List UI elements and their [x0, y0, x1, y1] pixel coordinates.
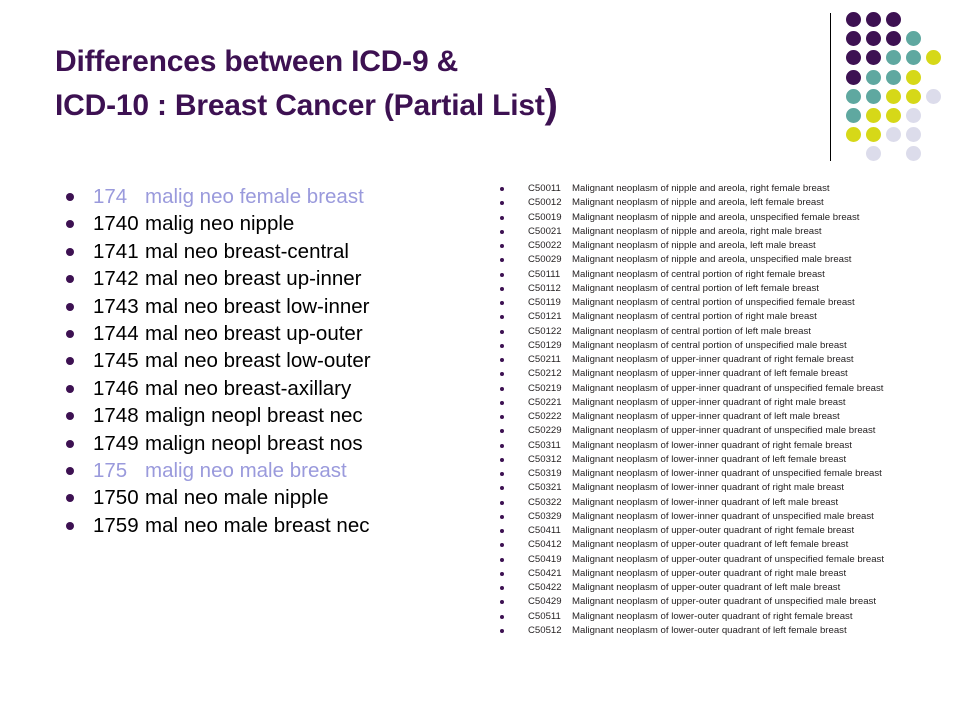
icd9-description: mal neo breast-central [145, 240, 349, 263]
icd9-description: mal neo breast low-inner [145, 295, 369, 318]
icd10-description: Malignant neoplasm of upper-outer quadra… [572, 525, 854, 536]
icd10-list-item: C50211Malignant neoplasm of upper-inner … [496, 353, 956, 367]
bullet-icon [66, 467, 74, 475]
logo-dot-yellow [886, 108, 901, 123]
icd9-code: 1745 [93, 347, 145, 374]
icd10-list-item: C50212Malignant neoplasm of upper-inner … [496, 367, 956, 381]
icd9-description: malig neo male breast [145, 459, 347, 482]
icd9-description: malig neo nipple [145, 212, 294, 235]
bullet-icon [66, 357, 74, 365]
bullet-icon [500, 600, 504, 604]
bullet-icon [500, 187, 504, 191]
bullet-icon [500, 543, 504, 547]
bullet-icon [500, 216, 504, 220]
icd10-description: Malignant neoplasm of upper-inner quadra… [572, 354, 854, 365]
icd9-list-item: 1746mal neo breast-axillary [60, 375, 480, 402]
icd10-list-item: C50429Malignant neoplasm of upper-outer … [496, 595, 956, 609]
bullet-icon [500, 301, 504, 305]
bullet-icon [500, 501, 504, 505]
icd10-code: C50129 [528, 339, 572, 353]
bullet-icon [66, 193, 74, 201]
icd10-code: C50322 [528, 496, 572, 510]
icd9-code: 1746 [93, 375, 145, 402]
bullet-icon [500, 344, 504, 348]
icd9-list-item: 1743mal neo breast low-inner [60, 293, 480, 320]
icd10-code: C50412 [528, 538, 572, 552]
logo-dot-teal [886, 50, 901, 65]
icd10-description: Malignant neoplasm of central portion of… [572, 311, 817, 322]
bullet-icon [500, 273, 504, 277]
logo-dot-purple [846, 31, 861, 46]
logo-dot-teal [866, 89, 881, 104]
bullet-icon [500, 572, 504, 576]
logo-dot-lavender [926, 89, 941, 104]
icd9-list-item: 1745mal neo breast low-outer [60, 347, 480, 374]
icd9-list-item: 1750mal neo male nipple [60, 484, 480, 511]
icd9-code-list: 174malig neo female breast1740malig neo … [60, 183, 480, 539]
icd10-description: Malignant neoplasm of lower-inner quadra… [572, 468, 882, 479]
icd10-code: C50119 [528, 296, 572, 310]
icd10-code: C50421 [528, 567, 572, 581]
bullet-icon [66, 220, 74, 228]
icd10-description: Malignant neoplasm of nipple and areola,… [572, 183, 830, 194]
icd10-description: Malignant neoplasm of central portion of… [572, 340, 847, 351]
icd9-code: 1740 [93, 210, 145, 237]
icd10-list-item: C50022Malignant neoplasm of nipple and a… [496, 239, 956, 253]
icd10-description: Malignant neoplasm of upper-inner quadra… [572, 397, 846, 408]
logo-dot-lavender [906, 108, 921, 123]
bullet-icon [66, 522, 74, 530]
logo-dot-yellow [846, 127, 861, 142]
icd10-list-item: C50221Malignant neoplasm of upper-inner … [496, 396, 956, 410]
icd10-code: C50221 [528, 396, 572, 410]
icd9-description: malign neopl breast nec [145, 404, 363, 427]
icd10-list-item: C50322Malignant neoplasm of lower-inner … [496, 496, 956, 510]
icd10-description: Malignant neoplasm of nipple and areola,… [572, 197, 824, 208]
icd10-list-item: C50512Malignant neoplasm of lower-outer … [496, 624, 956, 638]
logo-dot-yellow [886, 89, 901, 104]
icd9-description: mal neo breast low-outer [145, 349, 371, 372]
bullet-icon [500, 372, 504, 376]
bullet-icon [500, 486, 504, 490]
icd10-code: C50211 [528, 353, 572, 367]
icd10-code: C50012 [528, 196, 572, 210]
slide-canvas: Differences between ICD-9 & ICD-10 : Bre… [0, 0, 960, 720]
icd10-description: Malignant neoplasm of nipple and areola,… [572, 254, 851, 265]
logo-dot-teal [846, 108, 861, 123]
bullet-icon [500, 401, 504, 405]
bullet-icon [500, 244, 504, 248]
logo-dot-lavender [866, 146, 881, 161]
bullet-icon [66, 440, 74, 448]
logo-dot-yellow [906, 70, 921, 85]
title-closing-paren: ) [545, 82, 558, 126]
icd10-list-item: C50421Malignant neoplasm of upper-outer … [496, 567, 956, 581]
bullet-icon [500, 287, 504, 291]
icd10-list-item: C50122Malignant neoplasm of central port… [496, 325, 956, 339]
icd9-list-item: 174malig neo female breast [60, 183, 480, 210]
icd9-list-item: 1759mal neo male breast nec [60, 512, 480, 539]
bullet-icon [500, 315, 504, 319]
bullet-icon [500, 330, 504, 334]
bullet-icon [66, 330, 74, 338]
bullet-icon [66, 303, 74, 311]
icd10-description: Malignant neoplasm of lower-inner quadra… [572, 511, 874, 522]
icd10-code: C50229 [528, 424, 572, 438]
icd10-code: C50021 [528, 225, 572, 239]
icd10-code: C50112 [528, 282, 572, 296]
icd9-code: 1741 [93, 238, 145, 265]
bullet-icon [500, 201, 504, 205]
icd10-description: Malignant neoplasm of nipple and areola,… [572, 212, 859, 223]
bullet-icon [500, 558, 504, 562]
icd10-list-item: C50119Malignant neoplasm of central port… [496, 296, 956, 310]
icd10-code: C50422 [528, 581, 572, 595]
bullet-icon [66, 412, 74, 420]
icd9-code: 1750 [93, 484, 145, 511]
logo-dot-yellow [866, 108, 881, 123]
logo-dot-purple [886, 12, 901, 27]
icd9-code: 1742 [93, 265, 145, 292]
logo-dot-teal [846, 89, 861, 104]
logo-dot-purple [846, 50, 861, 65]
bullet-icon [500, 387, 504, 391]
logo-dot-lavender [886, 127, 901, 142]
icd10-code: C50321 [528, 481, 572, 495]
icd10-list-item: C50411Malignant neoplasm of upper-outer … [496, 524, 956, 538]
icd9-code: 1749 [93, 430, 145, 457]
logo-divider-line [830, 13, 831, 161]
icd10-description: Malignant neoplasm of central portion of… [572, 297, 855, 308]
icd10-description: Malignant neoplasm of upper-outer quadra… [572, 554, 884, 565]
bullet-icon [500, 429, 504, 433]
icd10-description: Malignant neoplasm of lower-inner quadra… [572, 454, 846, 465]
icd9-code: 174 [93, 183, 145, 210]
icd10-code: C50311 [528, 439, 572, 453]
icd10-description: Malignant neoplasm of upper-outer quadra… [572, 568, 846, 579]
bullet-icon [66, 275, 74, 283]
logo-dot-lavender [906, 127, 921, 142]
icd10-code: C50019 [528, 211, 572, 225]
logo-dot-lavender [906, 146, 921, 161]
icd10-description: Malignant neoplasm of lower-inner quadra… [572, 497, 838, 508]
bullet-icon [500, 472, 504, 476]
icd10-code: C50312 [528, 453, 572, 467]
icd9-list-item: 1744mal neo breast up-outer [60, 320, 480, 347]
icd10-code: C50319 [528, 467, 572, 481]
icd10-description: Malignant neoplasm of central portion of… [572, 283, 819, 294]
icd10-description: Malignant neoplasm of central portion of… [572, 269, 825, 280]
icd9-code: 1744 [93, 320, 145, 347]
icd10-code: C50429 [528, 595, 572, 609]
icd10-list-item: C50129Malignant neoplasm of central port… [496, 339, 956, 353]
icd10-description: Malignant neoplasm of upper-outer quadra… [572, 582, 840, 593]
logo-dot-purple [846, 12, 861, 27]
icd10-list-item: C50111Malignant neoplasm of central port… [496, 268, 956, 282]
icd10-list-item: C50329Malignant neoplasm of lower-inner … [496, 510, 956, 524]
icd10-code: C50219 [528, 382, 572, 396]
bullet-icon [500, 615, 504, 619]
icd10-list-item: C50419Malignant neoplasm of upper-outer … [496, 553, 956, 567]
icd10-description: Malignant neoplasm of upper-outer quadra… [572, 596, 876, 607]
icd10-description: Malignant neoplasm of central portion of… [572, 326, 811, 337]
icd9-list-item: 175malig neo male breast [60, 457, 480, 484]
icd10-code-list: C50011Malignant neoplasm of nipple and a… [496, 182, 956, 638]
icd10-code: C50011 [528, 182, 572, 196]
title-line-2: ICD-10 : Breast Cancer (Partial List) [55, 84, 755, 128]
bullet-icon [500, 529, 504, 533]
logo-dot-yellow [906, 89, 921, 104]
icd10-code: C50512 [528, 624, 572, 638]
icd10-description: Malignant neoplasm of lower-outer quadra… [572, 611, 853, 622]
icd9-description: mal neo male breast nec [145, 514, 369, 537]
logo-dot-yellow [866, 127, 881, 142]
icd10-code: C50111 [528, 268, 572, 282]
icd10-list-item: C50121Malignant neoplasm of central port… [496, 310, 956, 324]
icd10-list-item: C50511Malignant neoplasm of lower-outer … [496, 610, 956, 624]
icd9-description: mal neo breast up-outer [145, 322, 363, 345]
icd10-description: Malignant neoplasm of nipple and areola,… [572, 226, 822, 237]
icd10-list-item: C50321Malignant neoplasm of lower-inner … [496, 481, 956, 495]
icd10-code: C50029 [528, 253, 572, 267]
logo-dot-purple [866, 12, 881, 27]
icd10-code: C50121 [528, 310, 572, 324]
icd9-list-item: 1749malign neopl breast nos [60, 430, 480, 457]
title-line-1: Differences between ICD-9 & [55, 40, 755, 84]
icd9-code: 1759 [93, 512, 145, 539]
icd10-list-item: C50229Malignant neoplasm of upper-inner … [496, 424, 956, 438]
logo-dot-teal [866, 70, 881, 85]
icd10-code: C50411 [528, 524, 572, 538]
logo-dot-purple [866, 50, 881, 65]
bullet-icon [500, 258, 504, 262]
logo-dot-purple [866, 31, 881, 46]
icd10-description: Malignant neoplasm of upper-inner quadra… [572, 383, 883, 394]
bullet-icon [500, 230, 504, 234]
icd10-list-item: C50219Malignant neoplasm of upper-inner … [496, 382, 956, 396]
icd9-description: mal neo breast up-inner [145, 267, 362, 290]
icd10-description: Malignant neoplasm of upper-outer quadra… [572, 539, 848, 550]
icd10-list-item: C50422Malignant neoplasm of upper-outer … [496, 581, 956, 595]
icd9-code: 1748 [93, 402, 145, 429]
icd9-list-item: 1740malig neo nipple [60, 210, 480, 237]
icd10-description: Malignant neoplasm of upper-inner quadra… [572, 425, 875, 436]
bullet-icon [500, 458, 504, 462]
logo-dot-yellow [926, 50, 941, 65]
icd10-list-item: C50312Malignant neoplasm of lower-inner … [496, 453, 956, 467]
bullet-icon [500, 358, 504, 362]
icd10-description: Malignant neoplasm of lower-inner quadra… [572, 440, 852, 451]
bullet-icon [500, 515, 504, 519]
icd9-list-item: 1742mal neo breast up-inner [60, 265, 480, 292]
icd10-list-item: C50112Malignant neoplasm of central port… [496, 282, 956, 296]
logo-dot-teal [906, 31, 921, 46]
bullet-icon [500, 629, 504, 633]
icd10-list-item: C50412Malignant neoplasm of upper-outer … [496, 538, 956, 552]
icd10-code: C50122 [528, 325, 572, 339]
icd9-description: mal neo breast-axillary [145, 377, 351, 400]
icd10-code: C50212 [528, 367, 572, 381]
logo-dot-teal [906, 50, 921, 65]
icd9-list-item: 1741mal neo breast-central [60, 238, 480, 265]
icd10-code: C50329 [528, 510, 572, 524]
icd9-description: malig neo female breast [145, 185, 364, 208]
bullet-icon [66, 248, 74, 256]
icd10-description: Malignant neoplasm of lower-outer quadra… [572, 625, 847, 636]
bullet-icon [500, 586, 504, 590]
title-line-2-text: ICD-10 : Breast Cancer (Partial List [55, 89, 545, 122]
logo-dot-teal [886, 70, 901, 85]
icd10-code: C50022 [528, 239, 572, 253]
icd9-list-item: 1748malign neopl breast nec [60, 402, 480, 429]
icd10-description: Malignant neoplasm of lower-inner quadra… [572, 482, 844, 493]
icd10-description: Malignant neoplasm of nipple and areola,… [572, 240, 816, 251]
bullet-icon [500, 444, 504, 448]
icd10-list-item: C50222Malignant neoplasm of upper-inner … [496, 410, 956, 424]
icd10-code: C50222 [528, 410, 572, 424]
icd10-list-item: C50011Malignant neoplasm of nipple and a… [496, 182, 956, 196]
icd10-description: Malignant neoplasm of upper-inner quadra… [572, 411, 840, 422]
icd9-code: 1743 [93, 293, 145, 320]
icd10-list-item: C50019Malignant neoplasm of nipple and a… [496, 211, 956, 225]
icd10-list-item: C50319Malignant neoplasm of lower-inner … [496, 467, 956, 481]
bullet-icon [66, 385, 74, 393]
icd10-list-item: C50021Malignant neoplasm of nipple and a… [496, 225, 956, 239]
bullet-icon [500, 415, 504, 419]
logo-dot-purple [846, 70, 861, 85]
icd9-description: mal neo male nipple [145, 486, 328, 509]
icd10-list-item: C50029Malignant neoplasm of nipple and a… [496, 253, 956, 267]
icd10-list-item: C50012Malignant neoplasm of nipple and a… [496, 196, 956, 210]
page-title: Differences between ICD-9 & ICD-10 : Bre… [55, 40, 755, 128]
icd9-code: 175 [93, 457, 145, 484]
icd10-code: C50419 [528, 553, 572, 567]
icd10-code: C50511 [528, 610, 572, 624]
icd10-description: Malignant neoplasm of upper-inner quadra… [572, 368, 848, 379]
logo-dot-purple [886, 31, 901, 46]
bullet-icon [66, 494, 74, 502]
icd9-description: malign neopl breast nos [145, 432, 363, 455]
icd10-list-item: C50311Malignant neoplasm of lower-inner … [496, 439, 956, 453]
dot-matrix-logo [846, 12, 950, 164]
